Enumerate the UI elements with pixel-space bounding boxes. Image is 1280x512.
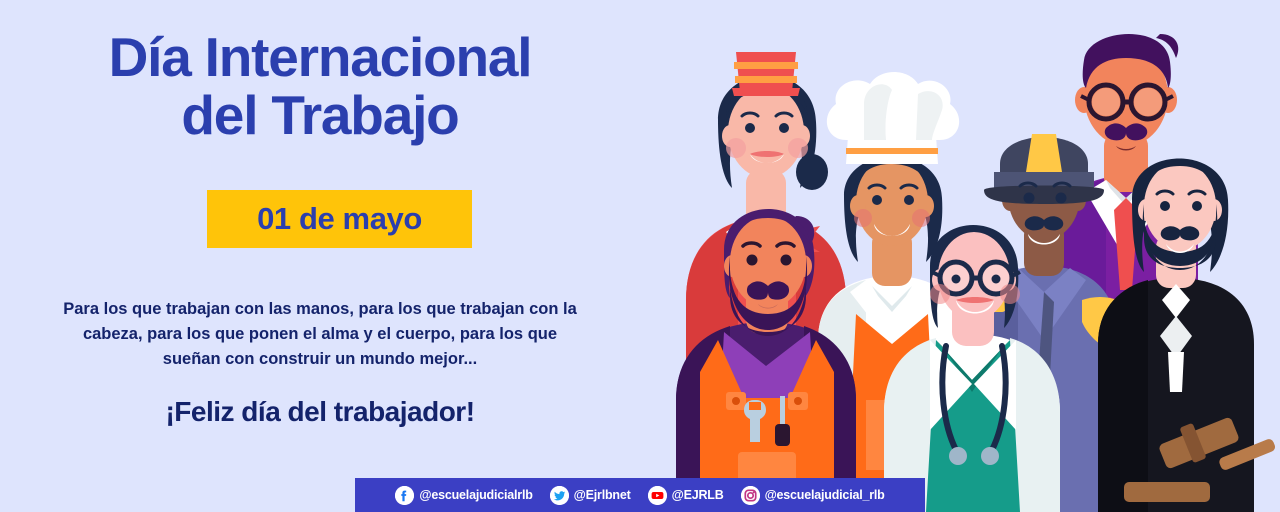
title-line-2: del Trabajo [0, 86, 640, 144]
facebook-handle: @escuelajudicialrlb [419, 488, 532, 502]
social-item-youtube[interactable]: @EJRLB [648, 486, 724, 505]
social-item-facebook[interactable]: @escuelajudicialrlb [395, 486, 532, 505]
social-media-bar: @escuelajudicialrlb @Ejrlbnet @EJRLB @es… [355, 478, 925, 512]
youtube-icon [648, 486, 667, 505]
date-badge: 01 de mayo [207, 190, 472, 248]
social-item-instagram[interactable]: @escuelajudicial_rlb [741, 486, 885, 505]
social-item-twitter[interactable]: @Ejrlbnet [550, 486, 631, 505]
page-title: Día Internacional del Trabajo [0, 28, 640, 144]
labour-day-banner: Día Internacional del Trabajo 01 de mayo… [0, 0, 1280, 512]
date-badge-label: 01 de mayo [257, 201, 422, 237]
title-line-1: Día Internacional [109, 26, 532, 88]
tagline: ¡Feliz día del trabajador! [60, 396, 580, 428]
quote-paragraph: Para los que trabajan con las manos, par… [60, 297, 580, 372]
twitter-icon [550, 486, 569, 505]
workers-illustration [620, 0, 1280, 512]
text-column: Día Internacional del Trabajo 01 de mayo… [0, 0, 640, 512]
twitter-handle: @Ejrlbnet [574, 488, 631, 502]
youtube-handle: @EJRLB [672, 488, 724, 502]
instagram-handle: @escuelajudicial_rlb [765, 488, 885, 502]
facebook-icon [395, 486, 414, 505]
instagram-icon [741, 486, 760, 505]
